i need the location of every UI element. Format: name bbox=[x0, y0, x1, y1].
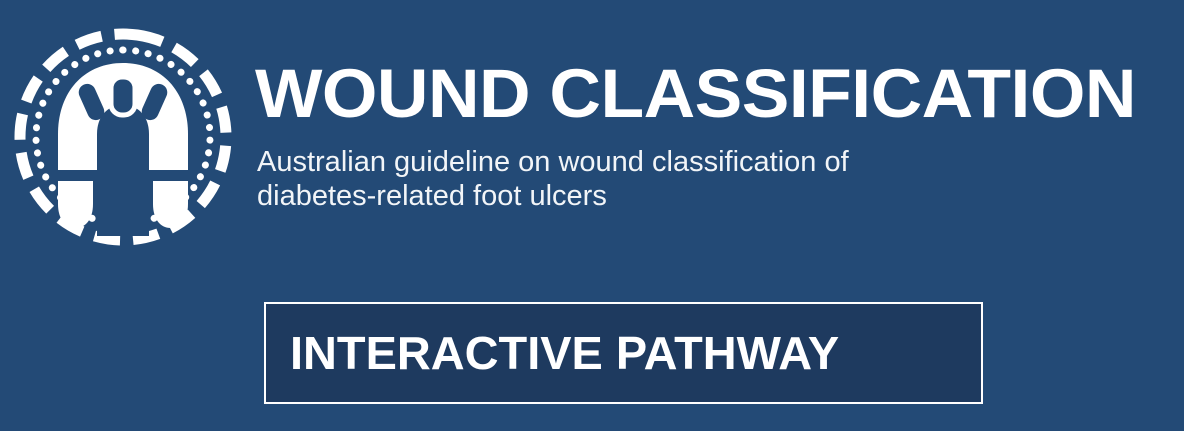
page-subtitle-line-2: diabetes-related foot ulcers bbox=[257, 179, 1037, 213]
page-title: WOUND CLASSIFICATION bbox=[255, 57, 1136, 131]
page-subtitle-line-1: Australian guideline on wound classifica… bbox=[257, 145, 1037, 179]
interactive-pathway-button[interactable]: INTERACTIVE PATHWAY bbox=[264, 302, 983, 404]
interactive-pathway-button-label: INTERACTIVE PATHWAY bbox=[290, 330, 839, 376]
page-subtitle: Australian guideline on wound classifica… bbox=[257, 145, 1037, 213]
wound-classification-banner: WOUND CLASSIFICATION Australian guidelin… bbox=[0, 0, 1184, 431]
footprint-in-dotted-circle-icon bbox=[12, 26, 234, 248]
